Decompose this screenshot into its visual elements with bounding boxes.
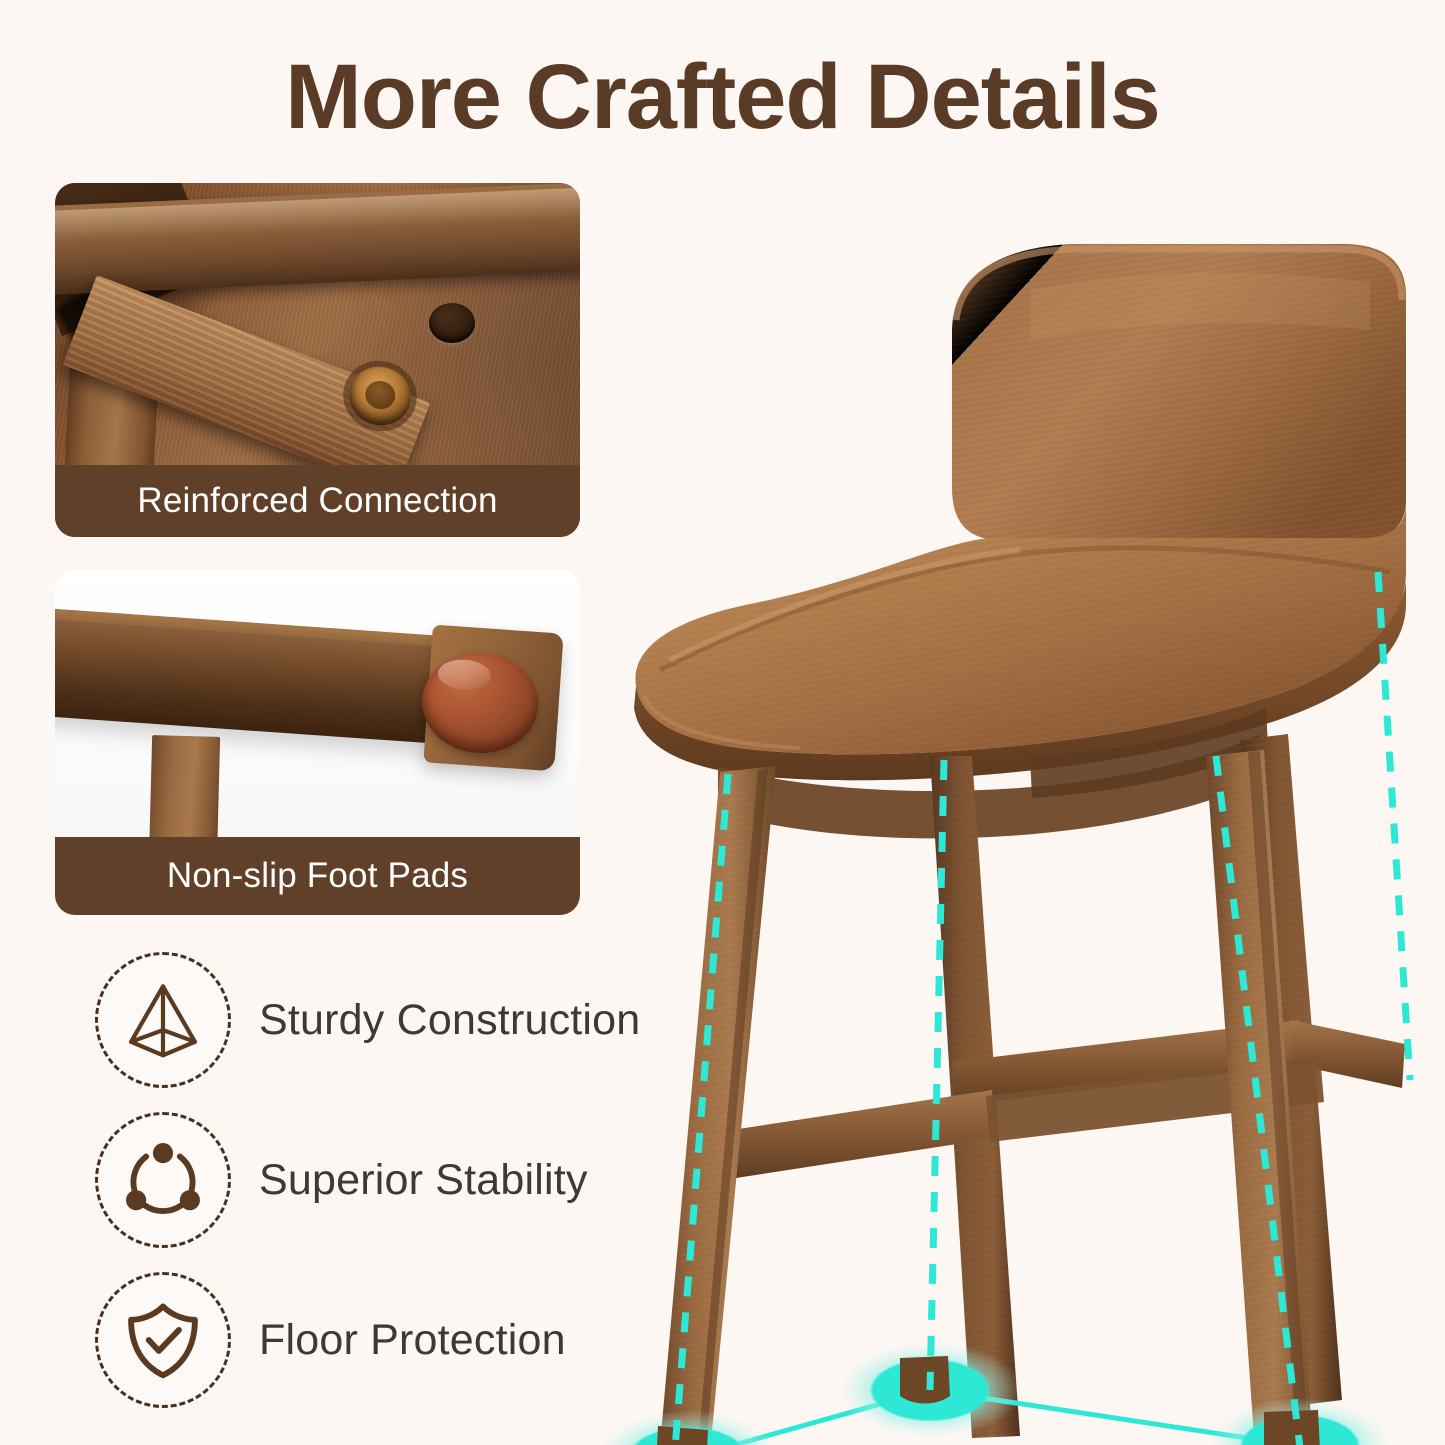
feature-icon-badge	[95, 952, 231, 1088]
three-node-network-icon	[121, 1138, 205, 1222]
feature-label: Sturdy Construction	[259, 996, 640, 1045]
card-caption: Non-slip Foot Pads	[55, 837, 580, 915]
pyramid-icon	[121, 978, 205, 1062]
card-caption: Reinforced Connection	[55, 465, 580, 537]
feature-item-floor-protection: Floor Protection	[95, 1272, 566, 1408]
page-title: More Crafted Details	[0, 48, 1445, 147]
detail-card-non-slip-foot-pads: Non-slip Foot Pads	[55, 570, 580, 915]
wooden-counter-stool-illustration	[600, 200, 1445, 1445]
dashed-guide-right	[1378, 572, 1410, 1080]
feature-icon-badge	[95, 1272, 231, 1408]
feature-item-sturdy-construction: Sturdy Construction	[95, 952, 640, 1088]
stool-leg-front-left	[658, 766, 776, 1445]
shield-check-icon	[121, 1298, 205, 1382]
feature-icon-badge	[95, 1112, 231, 1248]
detail-card-reinforced-connection: Reinforced Connection	[55, 183, 580, 537]
stool-seat	[634, 500, 1406, 780]
feature-label: Superior Stability	[259, 1156, 588, 1205]
feature-label: Floor Protection	[259, 1316, 566, 1365]
stool-backrest	[952, 244, 1406, 540]
feature-item-superior-stability: Superior Stability	[95, 1112, 588, 1248]
